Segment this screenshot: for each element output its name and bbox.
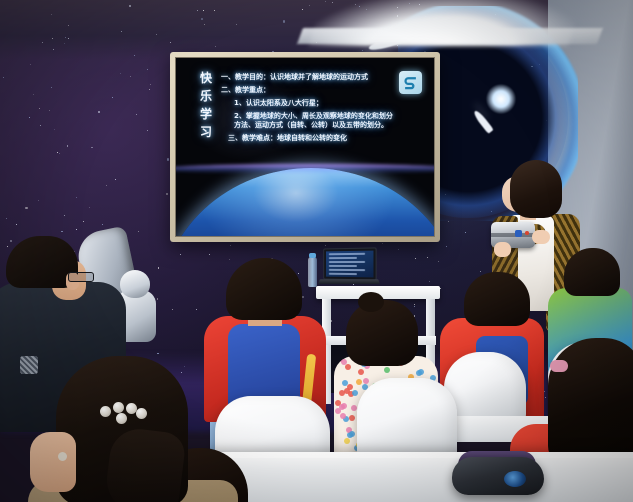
slide-title-char-2: 学: [200, 108, 212, 120]
front-desk-edge: [160, 452, 633, 458]
hair-tie: [550, 360, 568, 372]
ceiling-light: [309, 0, 584, 46]
slide-title-char-0: 快: [200, 72, 212, 84]
swirl-logo-icon: [399, 71, 422, 94]
ring: [58, 452, 67, 461]
slide-line-1: 一、教学目的：认识地球并了解地球的运动方式: [221, 73, 394, 82]
vr-headset[interactable]: [452, 451, 544, 497]
slide-body: 一、教学目的：认识地球并了解地球的运动方式 二、教学重点： 1、认识太阳系及八大…: [221, 70, 394, 176]
slide-line-5: 三、教学难点：地球自转和公转的变化: [221, 134, 394, 143]
vr-lens-icon: [504, 471, 526, 487]
display-screen: 快 乐 学 习 一、教学目的：认识地球并了解地球的运动方式 二、教学重点： 1、…: [175, 57, 435, 237]
slide-earth-image: [175, 168, 435, 237]
wall-display[interactable]: 快 乐 学 习 一、教学目的：认识地球并了解地球的运动方式 二、教学重点： 1、…: [170, 52, 440, 242]
woman-foreground: [38, 356, 218, 502]
pearl-hair-clip: [100, 402, 150, 420]
slide-content: 快 乐 学 习 一、教学目的：认识地球并了解地球的运动方式 二、教学重点： 1、…: [200, 70, 394, 176]
laptop-screen: [326, 251, 373, 278]
slide-title-char-3: 习: [200, 126, 212, 138]
slide-vertical-title: 快 乐 学 习: [200, 70, 212, 176]
slide-line-4: 2、掌握地球的大小、周长及观察地球的变化和划分方法、运动方式（自转、公转）以及五…: [221, 112, 394, 130]
slide-line-2: 二、教学重点：: [221, 86, 394, 95]
classroom-photo: 快 乐 学 习 一、教学目的：认识地球并了解地球的运动方式 二、教学重点： 1、…: [0, 0, 633, 502]
slide-title-char-1: 乐: [200, 90, 212, 102]
glasses-icon: [68, 272, 94, 282]
jacket-emblem: [20, 356, 38, 374]
slide-line-3: 1、认识太阳系及八大行星；: [221, 99, 394, 108]
